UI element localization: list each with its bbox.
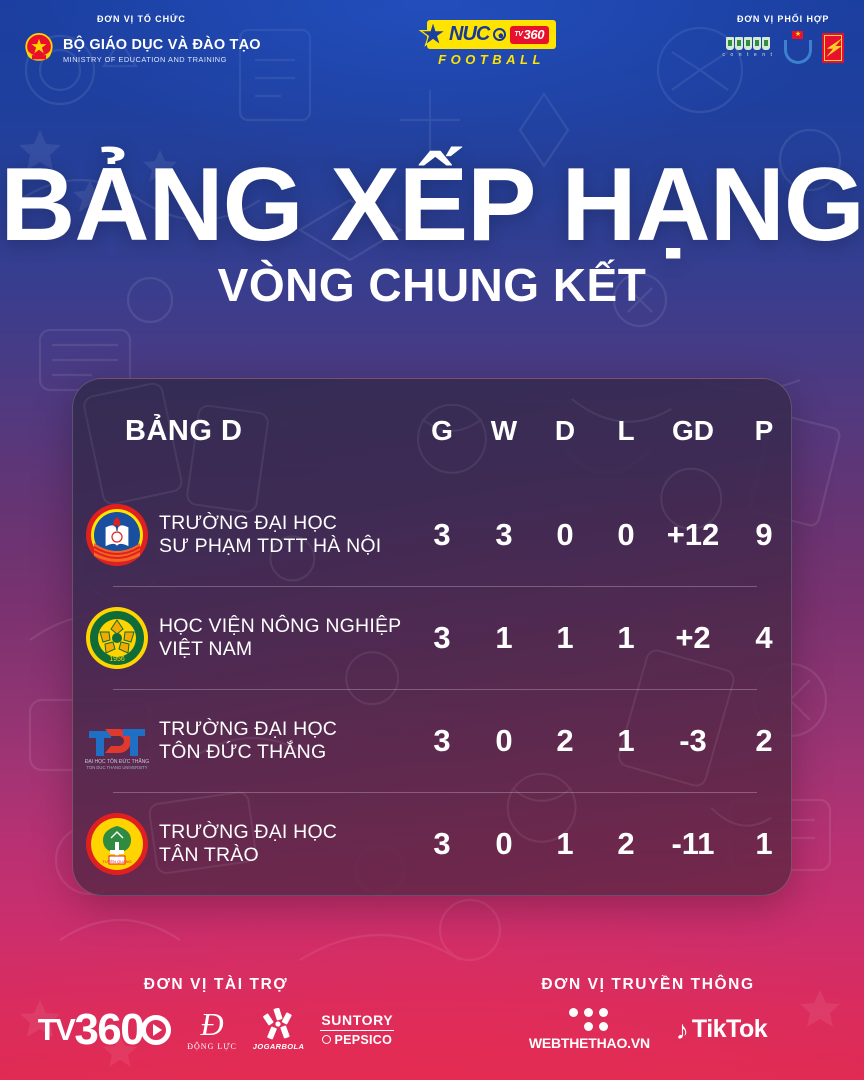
column-header-gd: GD [657,415,729,447]
partners-block: ĐƠN VỊ PHỐI HỢP c o n t e n t ⚡ [722,14,844,64]
music-note-icon: ♪ [676,1017,689,1043]
page-subtitle: VÒNG CHUNG KẾT [0,258,864,312]
vietnam-national-emblem-icon [22,31,56,70]
organizer-name: BỘ GIÁO DỤC VÀ ĐÀO TẠO [63,38,261,53]
partner-label: ĐƠN VỊ PHỐI HỢP [737,14,829,24]
stat-l: 2 [595,826,657,862]
team-name: HỌC VIỆN NÔNG NGHIỆP VIỆT NAM [159,615,401,661]
pepsico-row: PEPSICO [322,1033,392,1047]
page-title: BẢNG XẾP HẠNG [0,158,864,254]
dong-luc-monogram: Ð [200,1008,223,1040]
pepsi-globe-icon [322,1035,331,1044]
table-row[interactable]: TUYÊN QUANG TRƯỜNG ĐẠI HỌC TÂN TRÀO 3 0 … [73,792,791,895]
group-label: BẢNG D [125,415,411,448]
column-header-p: P [729,415,792,447]
suntory-pepsico-logo-icon[interactable]: SUNTORY PEPSICO [320,1012,394,1047]
west-content-caption: c o n t e n t [722,52,774,58]
stat-gd: +12 [657,517,729,553]
table-row[interactable]: ĐẠI HỌC TÔN ĐỨC THẮNG TON DUC THANG UNIV… [73,689,791,792]
tv360-prefix: TV [514,31,522,38]
team-name-line2: TÂN TRÀO [159,844,337,867]
ton-duc-thang-university-crest-icon: ĐẠI HỌC TÔN ĐỨC THẮNG TON DUC THANG UNIV… [85,709,149,773]
stat-l: 1 [595,723,657,759]
column-header-l: L [595,415,657,447]
team-name-line1: HỌC VIỆN NÔNG NGHIỆP [159,615,401,638]
column-header-w: W [473,415,535,447]
nuc-wordmark: NUC [449,23,489,46]
stat-g: 3 [411,517,473,553]
tv360-logo-icon[interactable]: TV 360 [38,1012,172,1048]
jogarbola-mark-icon [261,1008,297,1040]
team-identity: ĐẠI HỌC TÔN ĐỨC THẮNG TON DUC THANG UNIV… [85,709,411,773]
team-identity: TRƯỜNG ĐẠI HỌC SƯ PHẠM TDTT HÀ NỘI [85,503,411,567]
tan-trao-university-crest-icon: TUYÊN QUANG [85,812,149,876]
table-row[interactable]: TRƯỜNG ĐẠI HỌC SƯ PHẠM TDTT HÀ NỘI 3 3 0… [73,483,791,586]
team-name-line1: TRƯỜNG ĐẠI HỌC [159,512,381,535]
stat-w: 3 [473,517,535,553]
table-header-row: BẢNG D G W D L GD P [73,379,791,483]
suntory-text: SUNTORY [321,1012,393,1028]
tv360-tv-text: TV [38,1012,75,1048]
dong-luc-logo-icon[interactable]: Ð ĐỘNG LỰC [187,1008,237,1051]
sponsor-block: ĐƠN VỊ TÀI TRỢ TV 360 Ð ĐỘNG LỰC [0,960,432,1051]
team-identity: TUYÊN QUANG TRƯỜNG ĐẠI HỌC TÂN TRÀO [85,812,411,876]
svg-text:TON DUC THANG UNIVERSITY: TON DUC THANG UNIVERSITY [86,765,147,770]
team-name: TRƯỜNG ĐẠI HỌC TÂN TRÀO [159,821,337,867]
sponsor-label: ĐƠN VỊ TÀI TRỢ [144,976,288,994]
standings-card: BẢNG D G W D L GD P [72,378,792,896]
media-block: ĐƠN VỊ TRUYỀN THÔNG WEBTHETHAO.VN ♪ TikT… [432,960,864,1051]
webthethao-dots-icon [569,1008,609,1031]
organizer-label: ĐƠN VỊ TỔ CHỨC [97,14,186,24]
svg-text:TUYÊN QUANG: TUYÊN QUANG [102,859,131,864]
team-name: TRƯỜNG ĐẠI HỌC TÔN ĐỨC THẮNG [159,718,337,764]
column-header-g: G [411,415,473,447]
team-name-line2: SƯ PHẠM TDTT HÀ NỘI [159,535,381,558]
tiktok-logo-icon[interactable]: ♪ TikTok [676,1015,767,1044]
west-content-logo-icon: c o n t e n t [722,37,774,58]
poster-header: ĐƠN VỊ TỔ CHỨC BỘ GIÁO DỤC VÀ ĐÀO TẠO MI… [0,0,864,96]
play-ring-icon [141,1015,171,1045]
stat-d: 0 [535,517,595,553]
tv360-number: 360 [524,27,545,42]
svg-text:1956: 1956 [109,656,125,663]
university-sport-u-logo-icon [784,31,812,64]
svg-text:ĐẠI HỌC TÔN ĐỨC THẮNG: ĐẠI HỌC TÔN ĐỨC THẮNG [85,757,149,765]
organizer-block: ĐƠN VỊ TỔ CHỨC BỘ GIÁO DỤC VÀ ĐÀO TẠO MI… [22,14,261,70]
vietnam-agriculture-academy-crest-icon: 1956 [85,606,149,670]
football-wordmark: FOOTBALL [438,52,545,67]
star-icon [418,20,448,50]
poster-canvas: ĐƠN VỊ TỔ CHỨC BỘ GIÁO DỤC VÀ ĐÀO TẠO MI… [0,0,864,1080]
page-title-block: BẢNG XẾP HẠNG VÒNG CHUNG KẾT [0,158,864,312]
football-icon [493,28,506,41]
stat-w: 1 [473,620,535,656]
stat-d: 2 [535,723,595,759]
stat-d: 1 [535,620,595,656]
table-row[interactable]: 1956 HỌC VIỆN NÔNG NGHIỆP VIỆT NAM 3 1 1… [73,586,791,689]
stat-g: 3 [411,620,473,656]
stat-l: 1 [595,620,657,656]
tiktok-text: TikTok [692,1015,767,1044]
stat-p: 1 [729,826,792,862]
stat-g: 3 [411,826,473,862]
stat-p: 4 [729,620,792,656]
tv360-num-text: 360 [74,1012,143,1047]
team-name-line2: VIỆT NAM [159,638,401,661]
poster-footer: ĐƠN VỊ TÀI TRỢ TV 360 Ð ĐỘNG LỰC [0,960,864,1080]
jogarbola-caption: JOGARBOLA [253,1042,305,1051]
team-name-line2: TÔN ĐỨC THẮNG [159,741,337,764]
team-name-line1: TRƯỜNG ĐẠI HỌC [159,718,337,741]
tournament-logo: NUC TV 360 FOOTBALL [427,20,556,67]
media-label: ĐƠN VỊ TRUYỀN THÔNG [541,976,754,994]
hanoi-sports-university-crest-icon [85,503,149,567]
stat-gd: +2 [657,620,729,656]
suntory-rule [320,1030,394,1032]
team-name: TRƯỜNG ĐẠI HỌC SƯ PHẠM TDTT HÀ NỘI [159,512,381,558]
stat-w: 0 [473,723,535,759]
stat-p: 2 [729,723,792,759]
stat-w: 0 [473,826,535,862]
stat-gd: -3 [657,723,729,759]
dong-luc-caption: ĐỘNG LỰC [187,1042,237,1051]
team-name-line1: TRƯỜNG ĐẠI HỌC [159,821,337,844]
stat-p: 9 [729,517,792,553]
pepsico-text: PEPSICO [334,1033,392,1047]
red-vertical-banner-logo-icon: ⚡ [822,33,844,63]
stat-gd: -11 [657,826,729,862]
stat-l: 0 [595,517,657,553]
tv360-badge: TV 360 [510,26,549,44]
stat-d: 1 [535,826,595,862]
webthethao-text: WEBTHETHAO.VN [529,1035,650,1051]
stat-g: 3 [411,723,473,759]
jogarbola-logo-icon[interactable]: JOGARBOLA [253,1008,305,1051]
webthethao-logo-icon[interactable]: WEBTHETHAO.VN [529,1008,650,1051]
column-header-d: D [535,415,595,447]
organizer-subtitle: MINISTRY OF EDUCATION AND TRAINING [63,56,261,63]
team-identity: 1956 HỌC VIỆN NÔNG NGHIỆP VIỆT NAM [85,606,411,670]
